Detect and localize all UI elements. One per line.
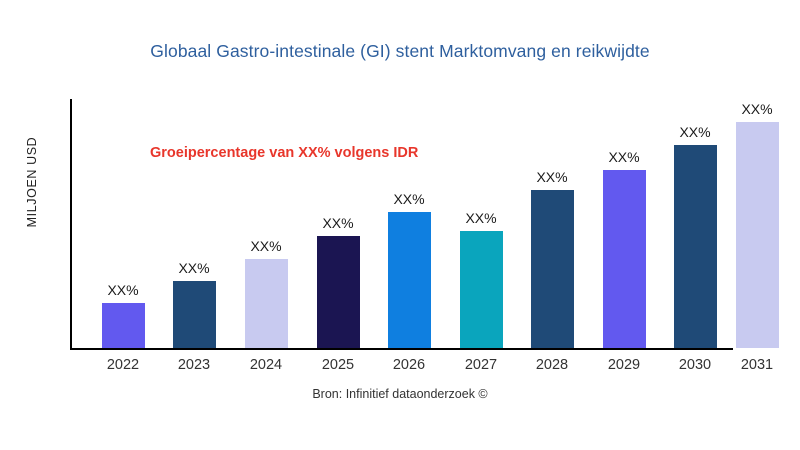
bar-group: XX%2028 — [531, 190, 574, 348]
bar-group: XX%2027 — [460, 231, 503, 348]
bar-value-label: XX% — [178, 260, 209, 276]
bar-group: XX%2025 — [317, 236, 360, 348]
x-axis-tick-label: 2028 — [536, 357, 568, 373]
bar[interactable] — [674, 145, 717, 348]
bar-group: XX%2022 — [102, 303, 145, 348]
x-axis-tick-label: 2027 — [465, 357, 497, 373]
x-axis-tick-label: 2023 — [178, 357, 210, 373]
chart-canvas: Globaal Gastro-intestinale (GI) stent Ma… — [0, 0, 800, 450]
bar-group: XX%2029 — [603, 170, 646, 348]
x-axis-tick-label: 2029 — [608, 357, 640, 373]
bar-value-label: XX% — [679, 124, 710, 140]
bar-group: XX%2026 — [388, 212, 431, 348]
bar-value-label: XX% — [107, 282, 138, 298]
bar[interactable] — [388, 212, 431, 348]
bar-group: XX%2030 — [674, 145, 717, 348]
bar-value-label: XX% — [741, 101, 772, 117]
x-axis-tick-label: 2026 — [393, 357, 425, 373]
bars-layer: XX%2022XX%2023XX%2024XX%2025XX%2026XX%20… — [0, 0, 800, 450]
bar[interactable] — [603, 170, 646, 348]
bar[interactable] — [173, 281, 216, 348]
bar[interactable] — [736, 122, 779, 348]
bar[interactable] — [245, 259, 288, 348]
bar-value-label: XX% — [250, 238, 281, 254]
x-axis-tick-label: 2025 — [322, 357, 354, 373]
bar-value-label: XX% — [536, 169, 567, 185]
source-note: Bron: Infinitief dataonderzoek © — [0, 387, 800, 401]
bar[interactable] — [317, 236, 360, 348]
bar-value-label: XX% — [393, 191, 424, 207]
bar-value-label: XX% — [322, 215, 353, 231]
x-axis-tick-label: 2030 — [679, 357, 711, 373]
bar-value-label: XX% — [465, 210, 496, 226]
x-axis-tick-label: 2024 — [250, 357, 282, 373]
bar[interactable] — [460, 231, 503, 348]
x-axis-tick-label: 2031 — [741, 357, 773, 373]
bar[interactable] — [102, 303, 145, 348]
bar[interactable] — [531, 190, 574, 348]
bar-group: XX%2031 — [736, 122, 779, 348]
x-axis-tick-label: 2022 — [107, 357, 139, 373]
bar-group: XX%2023 — [173, 281, 216, 348]
bar-value-label: XX% — [608, 149, 639, 165]
bar-group: XX%2024 — [245, 259, 288, 348]
